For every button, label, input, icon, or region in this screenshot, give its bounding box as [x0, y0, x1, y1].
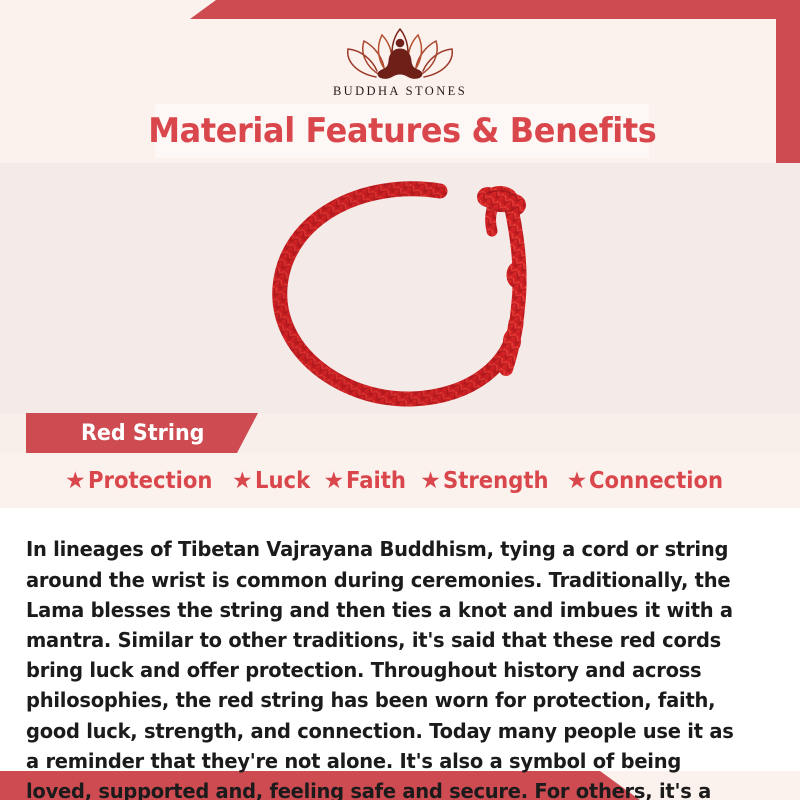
- benefits-row: ★ Protection ★ Luck ★ Faith ★ Strength ★…: [0, 453, 800, 508]
- product-label: Red String: [81, 421, 205, 446]
- lotus-meditation-icon: [340, 21, 460, 83]
- benefit-label: Strength: [443, 468, 549, 494]
- infographic-poster: BUDDHA STONES Material Features & Benefi…: [0, 0, 800, 800]
- page-title: Material Features & Benefits: [148, 111, 656, 151]
- brand-logo-block: BUDDHA STONES: [0, 19, 800, 105]
- product-image-band: [0, 163, 800, 413]
- product-label-ribbon: Red String: [26, 413, 258, 453]
- benefit-item-connection: ★ Connection: [564, 468, 738, 494]
- description-panel: In lineages of Tibetan Vajrayana Buddhis…: [0, 508, 800, 771]
- benefit-item-strength: ★ Strength: [417, 468, 560, 494]
- decorative-top-band: [0, 0, 800, 19]
- star-icon: ★: [324, 469, 345, 492]
- star-icon: ★: [65, 469, 86, 492]
- benefit-item-protection: ★ Protection: [62, 468, 226, 494]
- star-icon: ★: [567, 469, 588, 492]
- benefit-item-faith: ★ Faith: [321, 468, 415, 494]
- benefit-item-luck: ★ Luck: [229, 468, 318, 494]
- page-title-plate: Material Features & Benefits: [155, 104, 649, 158]
- red-string-bracelet-image: [244, 163, 574, 413]
- benefit-label: Luck: [255, 468, 310, 494]
- benefit-label: Connection: [589, 468, 723, 494]
- brand-wordmark: BUDDHA STONES: [333, 84, 467, 99]
- star-icon: ★: [232, 469, 253, 492]
- benefit-label: Faith: [346, 468, 406, 494]
- description-paragraph: In lineages of Tibetan Vajrayana Buddhis…: [26, 534, 740, 800]
- star-icon: ★: [420, 469, 441, 492]
- benefit-label: Protection: [88, 468, 212, 494]
